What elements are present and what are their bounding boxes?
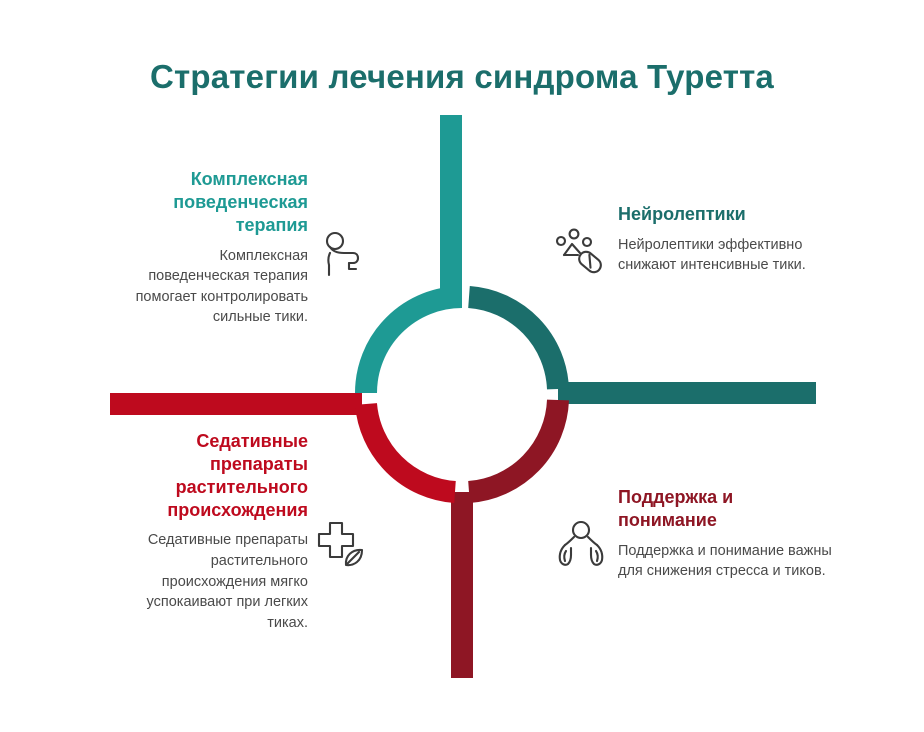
section-behavioral-body: Комплексная поведенческая терапия помога… [118,246,308,328]
connector-bottom-stem [451,492,473,678]
section-sedative: Седативные препараты растительного проис… [118,430,308,633]
person-raised-hands-icon [554,518,608,572]
ring-arc-top-right [469,297,558,389]
section-neuroleptics-body: Нейролептики эффективно снижают интенсив… [618,235,823,276]
section-neuroleptics: Нейролептики Нейролептики эффективно сни… [618,203,823,276]
ring-arc-bottom-right [469,400,558,492]
section-behavioral: Комплексная поведенческая терапия Компле… [118,168,308,328]
person-therapy-icon [313,228,367,282]
connector-top-stem [440,115,462,303]
ring-arc-top-left [366,297,462,393]
section-neuroleptics-heading: Нейролептики [618,203,823,226]
connector-left-stem [110,393,362,415]
section-sedative-heading: Седативные препараты растительного проис… [118,430,308,521]
ring-arc-bottom-left [366,404,455,492]
cross-leaf-icon [313,517,367,571]
pills-icon [552,227,606,281]
section-sedative-body: Седативные препараты растительного проис… [118,530,308,633]
section-support-heading: Поддержка и понимание [618,486,833,532]
connector-right-stem [558,382,816,404]
section-support-body: Поддержка и понимание важны для снижения… [618,541,833,582]
section-behavioral-heading: Комплексная поведенческая терапия [118,168,308,237]
section-support: Поддержка и понимание Поддержка и понима… [618,486,833,582]
